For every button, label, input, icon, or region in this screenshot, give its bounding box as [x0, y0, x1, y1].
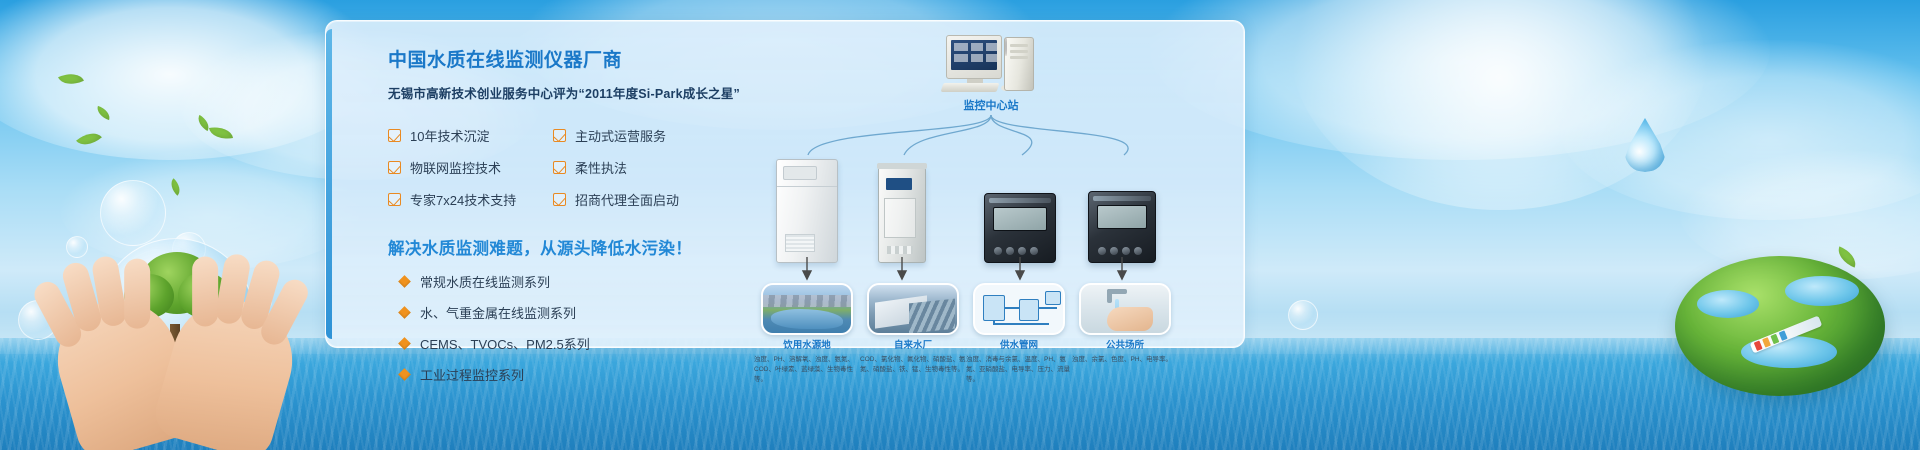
scene-desc: 浊度、PH、溶解氧、浊度、氨氮、COD、叶绿素、蓝绿藻、生物毒性等。 [752, 355, 862, 384]
page-subtitle: 无锡市高新技术创业服务中心评为“2011年度Si-Park成长之星” [388, 83, 758, 102]
diamond-bullet-icon [398, 368, 411, 381]
device-row [756, 153, 1226, 263]
diamond-bullet-icon [398, 306, 411, 319]
system-topology-diagram: 监控中心站 [756, 35, 1226, 335]
checklist-label: 主动式运营服务 [575, 126, 666, 145]
checklist-label: 10年技术沉淀 [410, 126, 489, 145]
list-item: CEMS、TVOCs、PM2.5系列 [388, 334, 758, 353]
checkbox-icon [388, 193, 401, 206]
checklist-item: 柔性执法 [553, 158, 758, 177]
hands-holding-tree [60, 220, 290, 450]
bubble [1288, 300, 1318, 330]
device-controller-small [1088, 191, 1156, 263]
device-analyzer-cabinet [878, 167, 926, 263]
scene-caption: 供水管网 浊度、消毒与余氯、温度、PH、氨氮、亚硝酸盐、电导率、压力、流量等。 [964, 337, 1074, 384]
checklist-item: 专家7x24技术支持 [388, 190, 553, 209]
scene-desc: 浊度、余氯、色度、PH、电导率。 [1070, 355, 1180, 365]
scene-caption: 自来水厂 COD、氯化物、氟化物、硝酸盐、氨氮、硝酸盐、铁、锰、生物毒性等。 [858, 337, 968, 375]
section-heading: 解决水质监测难题，从源头降低水污染！ [388, 235, 758, 259]
content-panel: 中国水质在线监测仪器厂商 无锡市高新技术创业服务中心评为“2011年度Si-Pa… [325, 20, 1245, 348]
checklist-label: 专家7x24技术支持 [410, 190, 516, 209]
scene-photo-row [756, 283, 1226, 335]
checklist-item: 物联网监控技术 [388, 158, 553, 177]
feature-checklist: 10年技术沉淀 主动式运营服务 物联网监控技术 柔性执法 专家7x24技术支持 … [388, 126, 758, 209]
checklist-item: 10年技术沉淀 [388, 126, 553, 145]
checkbox-icon [553, 193, 566, 206]
checkbox-icon [553, 129, 566, 142]
photo-water-pipeline-diagram [973, 283, 1065, 335]
device-water-cabinet [776, 159, 838, 263]
list-item: 常规水质在线监测系列 [388, 272, 758, 291]
monitoring-center-computer-icon [946, 35, 1038, 93]
checklist-item: 主动式运营服务 [553, 126, 758, 145]
scene-title: 公共场所 [1070, 337, 1180, 351]
scene-title: 饮用水源地 [752, 337, 862, 351]
page-title: 中国水质在线监测仪器厂商 [388, 45, 758, 72]
green-island-globe [1675, 246, 1885, 396]
panel-left-column: 中国水质在线监测仪器厂商 无锡市高新技术创业服务中心评为“2011年度Si-Pa… [388, 45, 758, 384]
scene-desc: 浊度、消毒与余氯、温度、PH、氨氮、亚硝酸盐、电导率、压力、流量等。 [964, 355, 1074, 384]
scene-caption: 公共场所 浊度、余氯、色度、PH、电导率。 [1070, 337, 1180, 365]
checklist-label: 物联网监控技术 [410, 158, 501, 177]
device-controller-large [984, 193, 1056, 263]
product-series-list: 常规水质在线监测系列 水、气重金属在线监测系列 CEMS、TVOCs、PM2.5… [388, 272, 758, 384]
checkbox-icon [388, 161, 401, 174]
center-station-label: 监控中心站 [906, 97, 1076, 113]
scene-title: 自来水厂 [858, 337, 968, 351]
list-item: 工业过程监控系列 [388, 365, 758, 384]
scene-title: 供水管网 [964, 337, 1074, 351]
checkbox-icon [553, 161, 566, 174]
checklist-label: 招商代理全面启动 [575, 190, 679, 209]
checklist-item: 招商代理全面启动 [553, 190, 758, 209]
scene-caption: 饮用水源地 浊度、PH、溶解氧、浊度、氨氮、COD、叶绿素、蓝绿藻、生物毒性等。 [752, 337, 862, 384]
checkbox-icon [388, 129, 401, 142]
checklist-label: 柔性执法 [575, 158, 627, 177]
list-item-label: 常规水质在线监测系列 [420, 272, 550, 291]
scene-desc: COD、氯化物、氟化物、硝酸盐、氨氮、硝酸盐、铁、锰、生物毒性等。 [858, 355, 968, 375]
topology-connector-lines [756, 113, 1226, 157]
photo-water-plant [867, 283, 959, 335]
photo-drinking-water-source [761, 283, 853, 335]
downward-flow-arrows [756, 257, 1226, 283]
diamond-bullet-icon [398, 275, 411, 288]
photo-public-tap [1079, 283, 1171, 335]
list-item-label: CEMS、TVOCs、PM2.5系列 [420, 334, 590, 353]
diamond-bullet-icon [398, 337, 411, 350]
list-item-label: 水、气重金属在线监测系列 [420, 303, 576, 322]
list-item-label: 工业过程监控系列 [420, 365, 524, 384]
list-item: 水、气重金属在线监测系列 [388, 303, 758, 322]
